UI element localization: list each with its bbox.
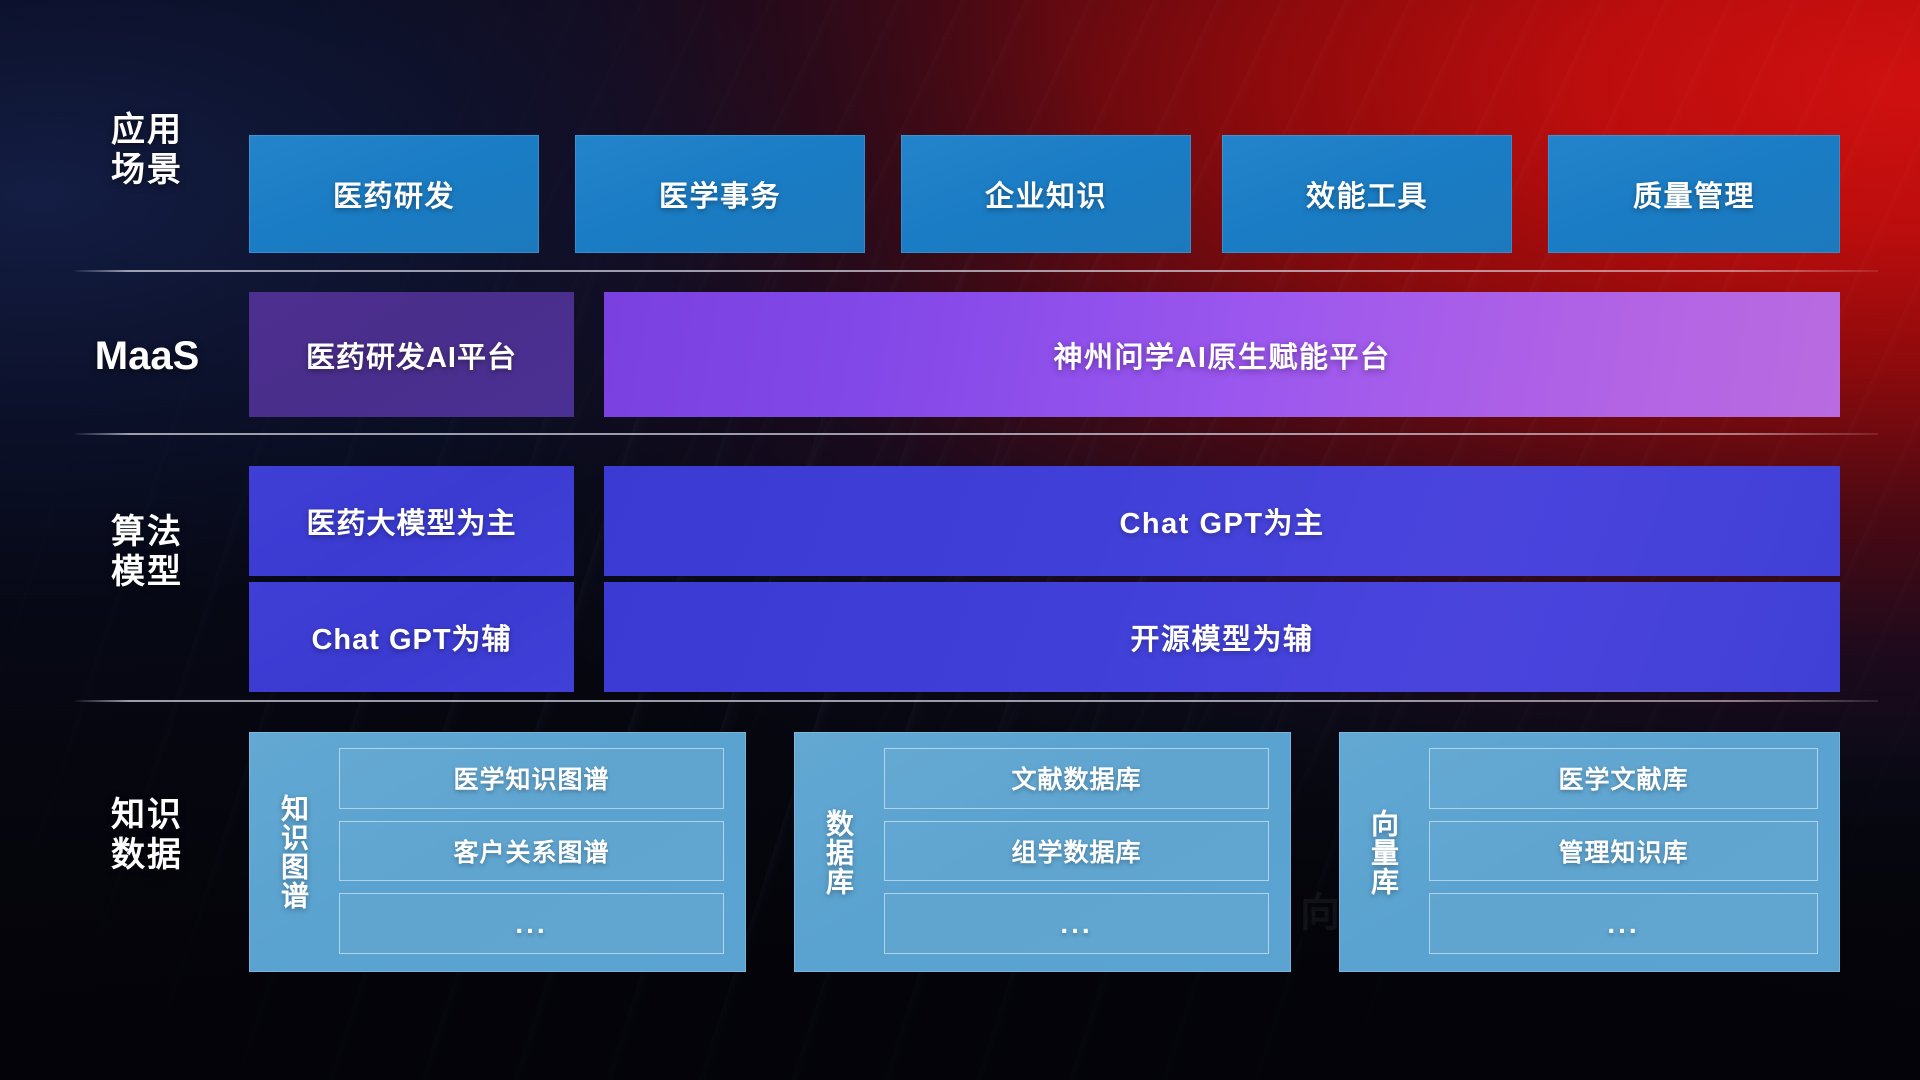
row-label-maas: MaaS — [72, 333, 222, 380]
knowledge-panel-title-database: 数据库 — [794, 732, 882, 972]
knowledge-item-more-knowledge-graph[interactable]: ... — [339, 893, 724, 954]
row-label-application-line1: 应用 — [72, 110, 222, 150]
row-label-knowledge-line2: 数据 — [72, 835, 222, 875]
knowledge-item-list-database: 文献数据库 组学数据库 ... — [882, 732, 1291, 972]
row-label-application: 应用 场景 — [72, 110, 222, 190]
knowledge-item-medical-knowledge-graph[interactable]: 医学知识图谱 — [339, 748, 724, 809]
row-label-knowledge: 知识 数据 — [72, 795, 222, 875]
divider-application-maas — [75, 270, 1878, 272]
app-box-efficiency-tools[interactable]: 效能工具 — [1222, 135, 1512, 253]
knowledge-panel-title-knowledge-graph: 知识图谱 — [249, 732, 337, 972]
app-box-medical-affairs[interactable]: 医学事务 — [575, 135, 865, 253]
knowledge-panel-database[interactable]: 数据库 文献数据库 组学数据库 ... — [794, 732, 1291, 972]
maas-box-pharma-ai-platform[interactable]: 医药研发AI平台 — [249, 292, 574, 417]
knowledge-item-more-database[interactable]: ... — [884, 893, 1269, 954]
maas-box-shenzhou-wenxue-platform[interactable]: 神州问学AI原生赋能平台 — [604, 292, 1840, 417]
app-box-pharma-rnd[interactable]: 医药研发 — [249, 135, 539, 253]
knowledge-panel-knowledge-graph[interactable]: 知识图谱 医学知识图谱 客户关系图谱 ... — [249, 732, 746, 972]
slide-canvas: 向量库 应用 场景 医药研发 医学事务 企业知识 效能工具 质量管理 MaaS … — [0, 0, 1920, 1080]
knowledge-item-customer-relation-graph[interactable]: 客户关系图谱 — [339, 821, 724, 882]
knowledge-item-medical-literature-store[interactable]: 医学文献库 — [1429, 748, 1818, 809]
algo-box-chatgpt-primary[interactable]: Chat GPT为主 — [604, 466, 1840, 576]
row-label-algorithm: 算法 模型 — [72, 512, 222, 592]
app-box-quality-management[interactable]: 质量管理 — [1548, 135, 1840, 253]
divider-algorithm-knowledge — [75, 700, 1878, 702]
knowledge-item-list-knowledge-graph: 医学知识图谱 客户关系图谱 ... — [337, 732, 746, 972]
row-label-algorithm-line1: 算法 — [72, 512, 222, 552]
knowledge-panel-title-vector-store: 向量库 — [1339, 732, 1427, 972]
knowledge-item-management-knowledge-store[interactable]: 管理知识库 — [1429, 821, 1818, 882]
divider-maas-algorithm — [75, 433, 1878, 435]
row-label-knowledge-line1: 知识 — [72, 795, 222, 835]
row-label-application-line2: 场景 — [72, 150, 222, 190]
knowledge-item-list-vector-store: 医学文献库 管理知识库 ... — [1427, 732, 1840, 972]
knowledge-item-omics-database[interactable]: 组学数据库 — [884, 821, 1269, 882]
app-box-enterprise-knowledge[interactable]: 企业知识 — [901, 135, 1191, 253]
row-label-algorithm-line2: 模型 — [72, 552, 222, 592]
algo-box-pharma-llm-primary[interactable]: 医药大模型为主 — [249, 466, 574, 576]
knowledge-item-more-vector-store[interactable]: ... — [1429, 893, 1818, 954]
knowledge-item-literature-database[interactable]: 文献数据库 — [884, 748, 1269, 809]
algo-box-opensource-secondary[interactable]: 开源模型为辅 — [604, 582, 1840, 692]
knowledge-panel-vector-store[interactable]: 向量库 医学文献库 管理知识库 ... — [1339, 732, 1840, 972]
algo-box-chatgpt-secondary[interactable]: Chat GPT为辅 — [249, 582, 574, 692]
